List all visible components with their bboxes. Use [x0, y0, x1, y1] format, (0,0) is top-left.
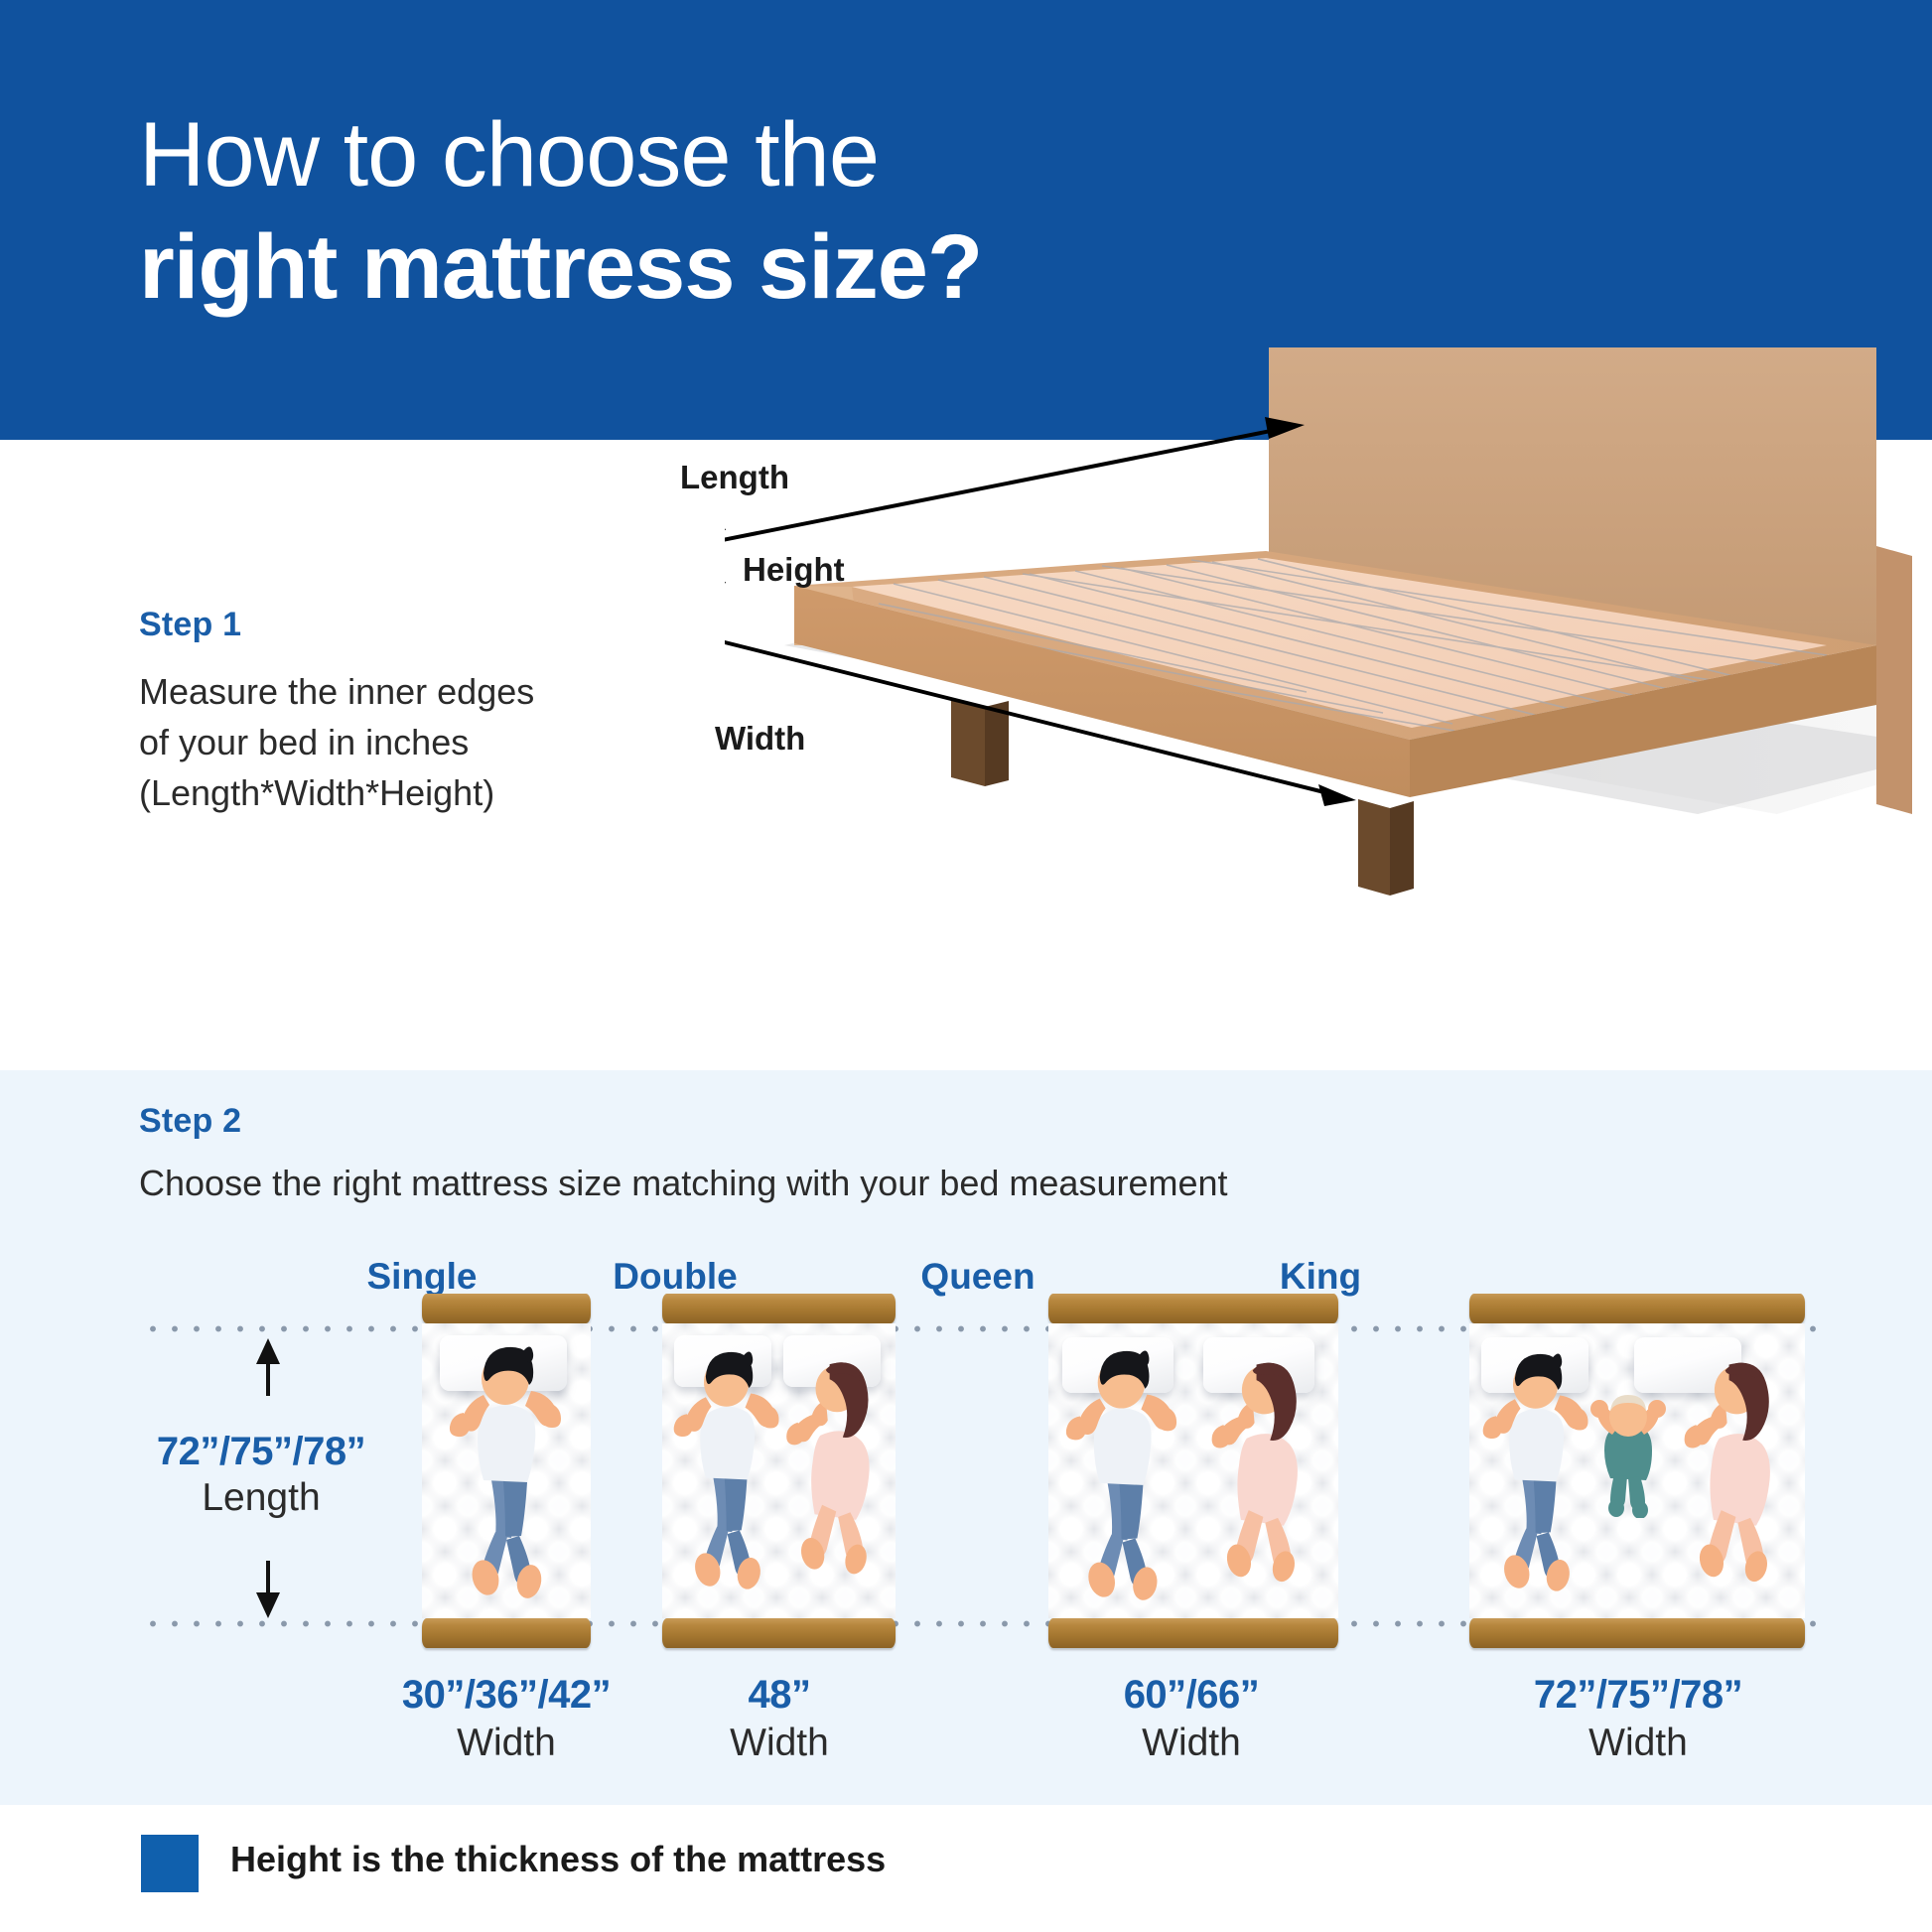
title-line-2: right mattress size?	[139, 216, 982, 319]
legend-swatch-icon	[141, 1835, 199, 1892]
length-measure-value: 72”/75”/78”	[117, 1430, 405, 1474]
mattress-surface-double	[662, 1323, 896, 1618]
mattress-slat-bottom-double	[662, 1618, 896, 1648]
sleeper-man	[446, 1337, 570, 1605]
width-value-queen: 60”/66”	[1042, 1673, 1340, 1718]
length-measure-label: 72”/75”/78” Length	[117, 1430, 405, 1520]
bed-illustration-svg	[725, 347, 1932, 1042]
mattress-king	[1469, 1294, 1805, 1648]
title-line-1: How to choose the	[139, 104, 982, 207]
bed-leg-left	[951, 698, 985, 786]
footer-note-text: Height is the thickness of the mattress	[230, 1839, 886, 1880]
step-1-block: Step 1 Measure the inner edges of your b…	[139, 606, 606, 818]
sleeper-baby	[1583, 1395, 1674, 1518]
mattress-surface-single	[422, 1323, 591, 1618]
width-label-single: 30”/36”/42” Width	[328, 1673, 685, 1765]
height-dimension-label: Height	[743, 551, 845, 589]
mattress-slat-top-king	[1469, 1294, 1805, 1323]
mattress-single	[422, 1294, 591, 1648]
bed-diagram: Length Height Width	[725, 347, 1932, 1042]
step-1-line-3: (Length*Width*Height)	[139, 767, 606, 818]
width-caption-king: Width	[1459, 1722, 1817, 1765]
step-2-block: Step 2 Choose the right mattress size ma…	[139, 1102, 1228, 1204]
step-1-line-2: of your bed in inches	[139, 717, 606, 767]
sleeper-man	[1479, 1341, 1596, 1601]
footer-note: Height is the thickness of the mattress	[0, 1805, 1932, 1932]
sleeper-woman	[1197, 1345, 1320, 1597]
width-label-queen: 60”/66” Width	[1042, 1673, 1340, 1765]
mattress-slat-bottom-king	[1469, 1618, 1805, 1648]
width-label-double: 48” Width	[650, 1673, 908, 1765]
width-value-king: 72”/75”/78”	[1459, 1673, 1817, 1718]
size-heading-king: King	[1211, 1256, 1430, 1298]
width-value-double: 48”	[650, 1673, 908, 1718]
mattress-slat-bottom-queen	[1048, 1618, 1338, 1648]
mattress-slat-top-single	[422, 1294, 591, 1323]
infographic-page: How to choose the right mattress size? S…	[0, 0, 1932, 1932]
width-label-king: 72”/75”/78” Width	[1459, 1673, 1817, 1765]
sleeper-man	[1062, 1341, 1185, 1607]
mattress-surface-king	[1469, 1323, 1805, 1618]
size-heading-double: Double	[576, 1256, 774, 1298]
step-1-line-1: Measure the inner edges	[139, 666, 606, 717]
mattress-slat-top-queen	[1048, 1294, 1338, 1323]
mattress-queen	[1048, 1294, 1338, 1648]
size-heading-single: Single	[328, 1256, 516, 1298]
bed-leg-front	[1358, 799, 1390, 896]
width-caption-double: Width	[650, 1722, 908, 1765]
mattress-slat-top-double	[662, 1294, 896, 1323]
width-dimension-label: Width	[715, 720, 805, 758]
sleeper-man	[670, 1339, 787, 1599]
step-2-label: Step 2	[139, 1102, 1228, 1141]
length-dimension-label: Length	[680, 459, 789, 496]
width-caption-queen: Width	[1042, 1722, 1340, 1765]
size-heading-queen: Queen	[874, 1256, 1082, 1298]
length-measure-caption: Length	[117, 1476, 405, 1520]
sleeper-woman	[773, 1343, 891, 1591]
width-value-single: 30”/36”/42”	[328, 1673, 685, 1718]
mattress-double	[662, 1294, 896, 1648]
mattress-slat-bottom-single	[422, 1618, 591, 1648]
step-2-description: Choose the right mattress size matching …	[139, 1163, 1228, 1204]
step-1-label: Step 1	[139, 606, 606, 644]
page-title: How to choose the right mattress size?	[139, 104, 982, 319]
mattress-surface-queen	[1048, 1323, 1338, 1618]
sleeper-woman	[1670, 1345, 1793, 1597]
step-1-description: Measure the inner edges of your bed in i…	[139, 666, 606, 818]
width-caption-single: Width	[328, 1722, 685, 1765]
